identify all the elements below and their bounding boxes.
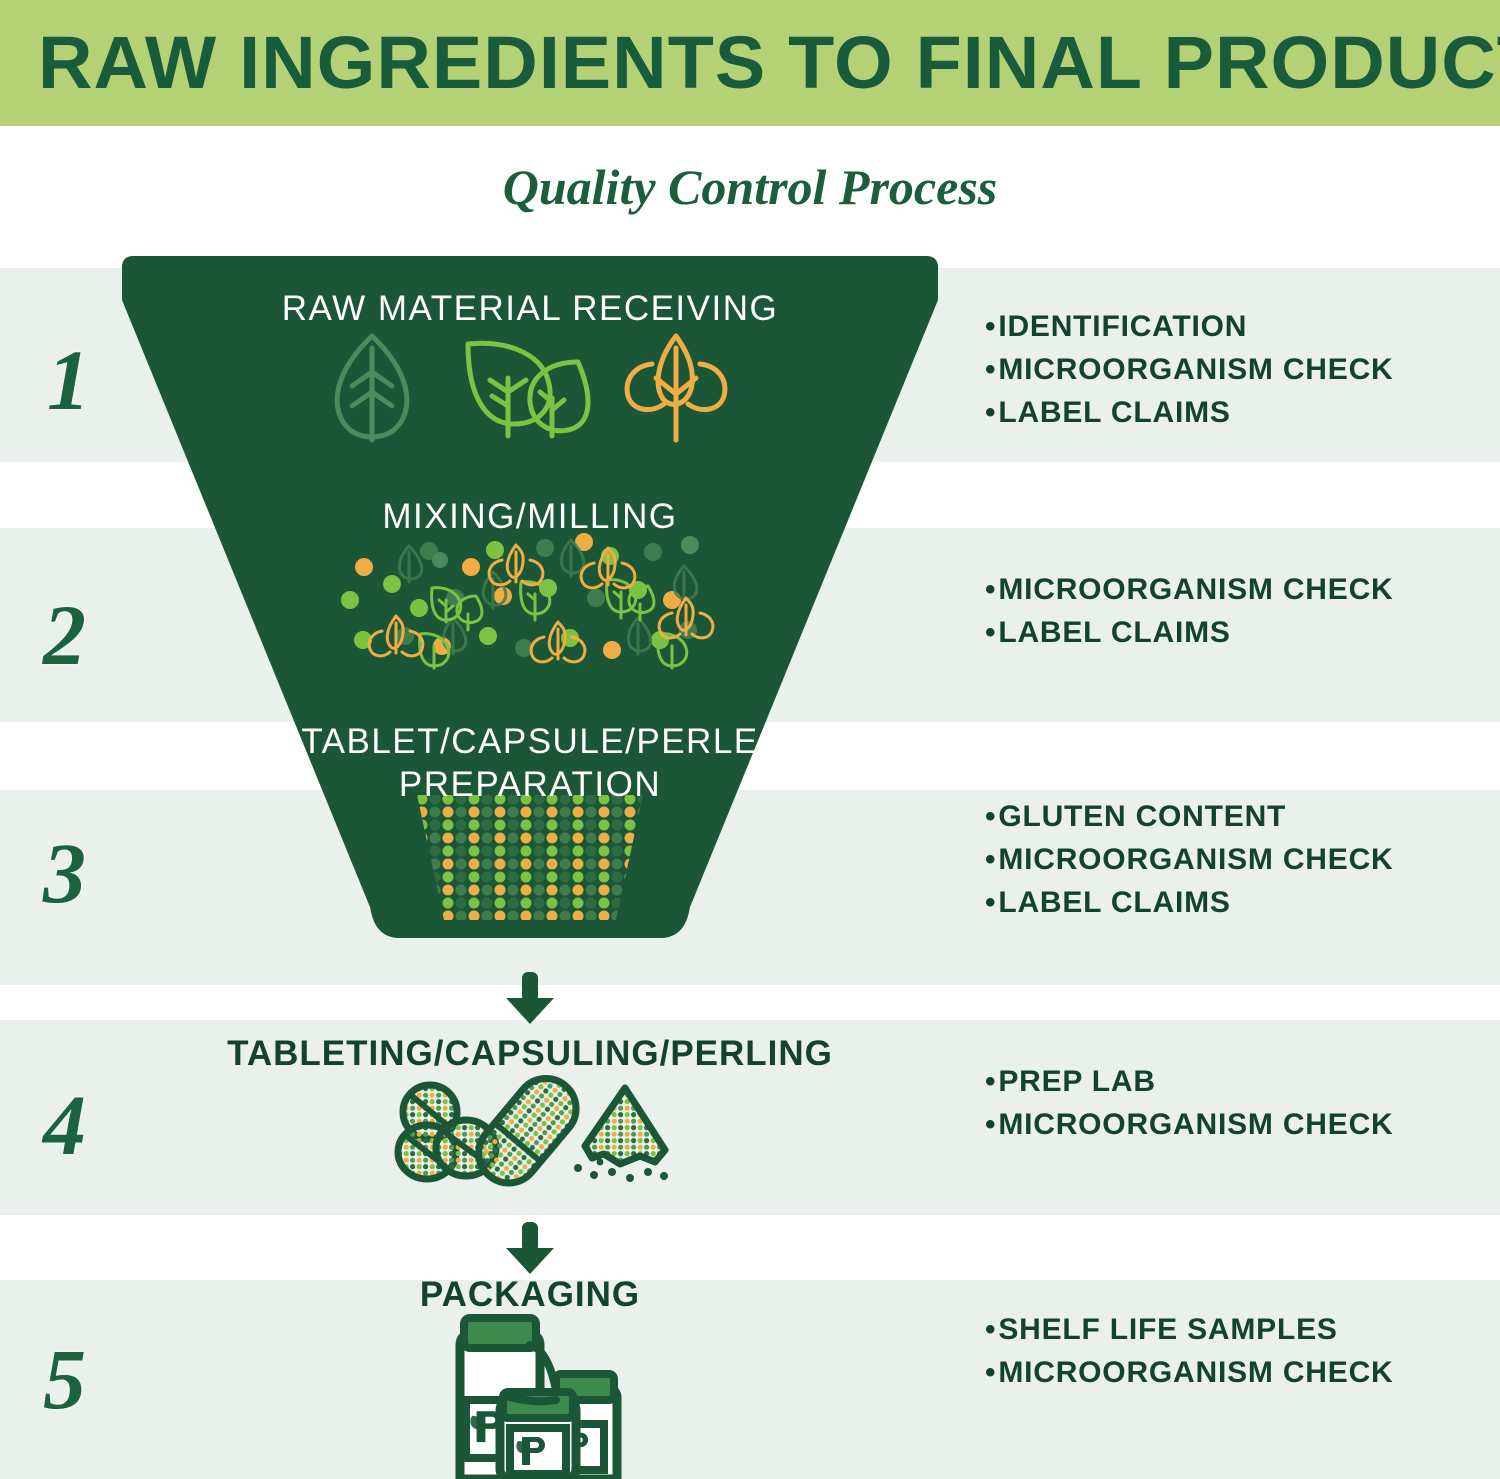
check-label: LABEL CLAIMS xyxy=(998,616,1230,649)
stage-label-5: PACKAGING xyxy=(330,1274,730,1316)
check-item: •LABEL CLAIMS xyxy=(985,611,1394,654)
page-title: RAW INGREDIENTS TO FINAL PRODUCT xyxy=(38,20,1497,106)
checks-list-5: •SHELF LIFE SAMPLES •MICROORGANISM CHECK xyxy=(985,1308,1394,1394)
bullet-marker: • xyxy=(985,568,996,611)
bullet-marker: • xyxy=(985,838,996,881)
checks-list-1: •IDENTIFICATION •MICROORGANISM CHECK •LA… xyxy=(985,305,1394,434)
check-item: •MICROORGANISM CHECK xyxy=(985,1351,1394,1394)
step-number-5: 5 xyxy=(43,1336,86,1422)
bullet-marker: • xyxy=(985,881,996,924)
check-label: LABEL CLAIMS xyxy=(998,396,1230,429)
check-label: LABEL CLAIMS xyxy=(998,886,1230,919)
stage-label-3-line2: PREPARATION xyxy=(200,763,860,806)
stage-label-3-line1: TABLET/CAPSULE/PERLE xyxy=(200,720,860,763)
check-label: MICROORGANISM CHECK xyxy=(998,1108,1393,1141)
stage-label-4: TABLETING/CAPSULING/PERLING xyxy=(140,1033,920,1075)
check-label: MICROORGANISM CHECK xyxy=(998,353,1393,386)
checks-list-3: •GLUTEN CONTENT •MICROORGANISM CHECK •LA… xyxy=(985,795,1394,924)
bullet-marker: • xyxy=(985,1308,996,1351)
check-label: IDENTIFICATION xyxy=(998,310,1247,343)
bullet-marker: • xyxy=(985,305,996,348)
check-item: •SHELF LIFE SAMPLES xyxy=(985,1308,1394,1351)
bullet-marker: • xyxy=(985,611,996,654)
page-subtitle: Quality Control Process xyxy=(0,158,1500,216)
step-number-1: 1 xyxy=(47,337,90,423)
check-label: SHELF LIFE SAMPLES xyxy=(998,1313,1337,1346)
bullet-marker: • xyxy=(985,348,996,391)
bullet-marker: • xyxy=(985,391,996,434)
checks-list-2: •MICROORGANISM CHECK •LABEL CLAIMS xyxy=(985,568,1394,654)
step-number-4: 4 xyxy=(43,1082,86,1168)
check-label: GLUTEN CONTENT xyxy=(998,800,1286,833)
arrow-tableting-to-packaging xyxy=(506,1222,554,1274)
check-item: •MICROORGANISM CHECK xyxy=(985,568,1394,611)
check-label: MICROORGANISM CHECK xyxy=(998,573,1393,606)
check-item: •IDENTIFICATION xyxy=(985,305,1394,348)
check-item: •LABEL CLAIMS xyxy=(985,391,1394,434)
check-label: MICROORGANISM CHECK xyxy=(998,1356,1393,1389)
checks-list-4: •PREP LAB •MICROORGANISM CHECK xyxy=(985,1060,1394,1146)
check-label: MICROORGANISM CHECK xyxy=(998,843,1393,876)
check-item: •MICROORGANISM CHECK xyxy=(985,1103,1394,1146)
check-label: PREP LAB xyxy=(998,1065,1156,1098)
bullet-marker: • xyxy=(985,795,996,838)
step-number-2: 2 xyxy=(43,592,86,678)
stage-label-2: MIXING/MILLING xyxy=(230,496,830,538)
check-item: •MICROORGANISM CHECK xyxy=(985,348,1394,391)
check-item: •PREP LAB xyxy=(985,1060,1394,1103)
bullet-marker: • xyxy=(985,1351,996,1394)
bullet-marker: • xyxy=(985,1103,996,1146)
step-number-3: 3 xyxy=(43,830,86,916)
check-item: •GLUTEN CONTENT xyxy=(985,795,1394,838)
check-item: •MICROORGANISM CHECK xyxy=(985,838,1394,881)
check-item: •LABEL CLAIMS xyxy=(985,881,1394,924)
bullet-marker: • xyxy=(985,1060,996,1103)
stage-label-1: RAW MATERIAL RECEIVING xyxy=(180,288,880,330)
